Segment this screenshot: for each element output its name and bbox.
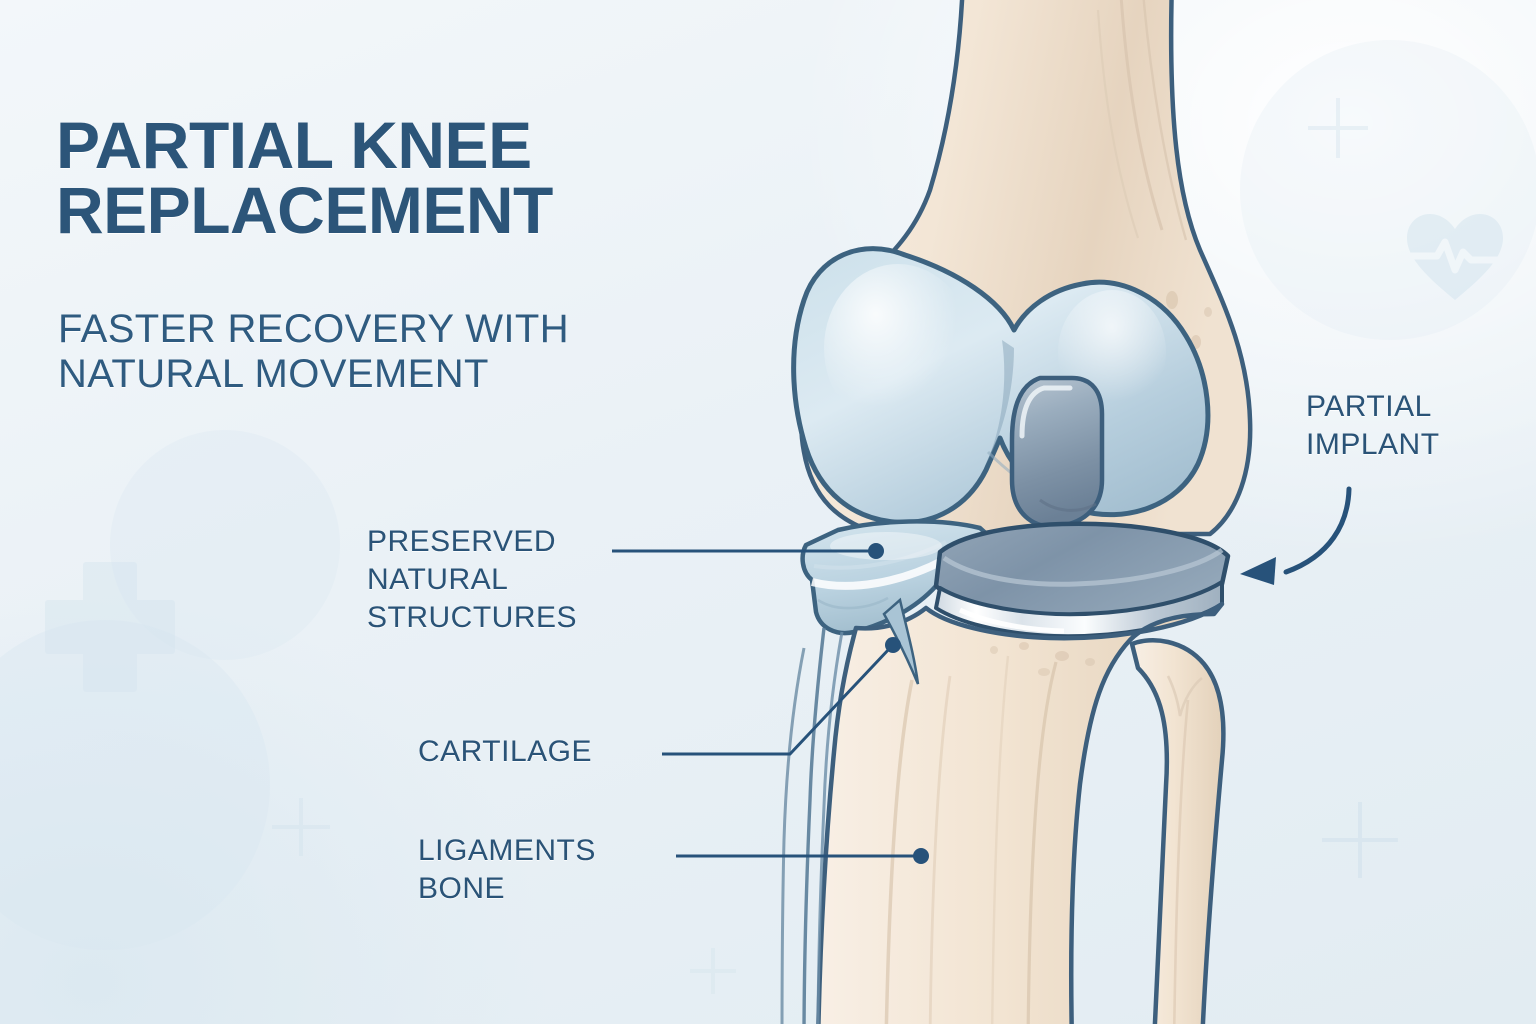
callout-line: NATURAL (367, 561, 667, 599)
infographic-canvas: PARTIAL KNEE REPLACEMENT FASTER RECOVERY… (0, 0, 1536, 1024)
callout-line: PARTIAL (1306, 388, 1506, 426)
callout-line: IMPLANT (1306, 426, 1506, 464)
leader-line-cartilage (662, 637, 901, 754)
subtitle-line-2: NATURAL MOVEMENT (58, 352, 718, 397)
title-line-2: REPLACEMENT (56, 178, 736, 243)
callout-partial-implant: PARTIAL IMPLANT (1306, 388, 1506, 464)
leader-line-ligaments (676, 848, 929, 864)
callout-line: CARTILAGE (418, 733, 668, 771)
leader-arrow-partial-implant (1240, 489, 1349, 585)
callout-preserved-natural-structures: PRESERVED NATURAL STRUCTURES (367, 523, 667, 636)
callout-ligaments-bone: LIGAMENTS BONE (418, 832, 678, 908)
callout-line: PRESERVED (367, 523, 667, 561)
title-line-1: PARTIAL KNEE (56, 108, 532, 182)
page-title: PARTIAL KNEE REPLACEMENT (56, 113, 736, 242)
callout-line: LIGAMENTS (418, 832, 678, 870)
callout-line: BONE (418, 870, 678, 908)
subtitle-line-1: FASTER RECOVERY WITH (58, 307, 569, 351)
page-subtitle: FASTER RECOVERY WITH NATURAL MOVEMENT (58, 307, 718, 397)
callout-cartilage: CARTILAGE (418, 733, 668, 771)
callout-line: STRUCTURES (367, 599, 667, 637)
